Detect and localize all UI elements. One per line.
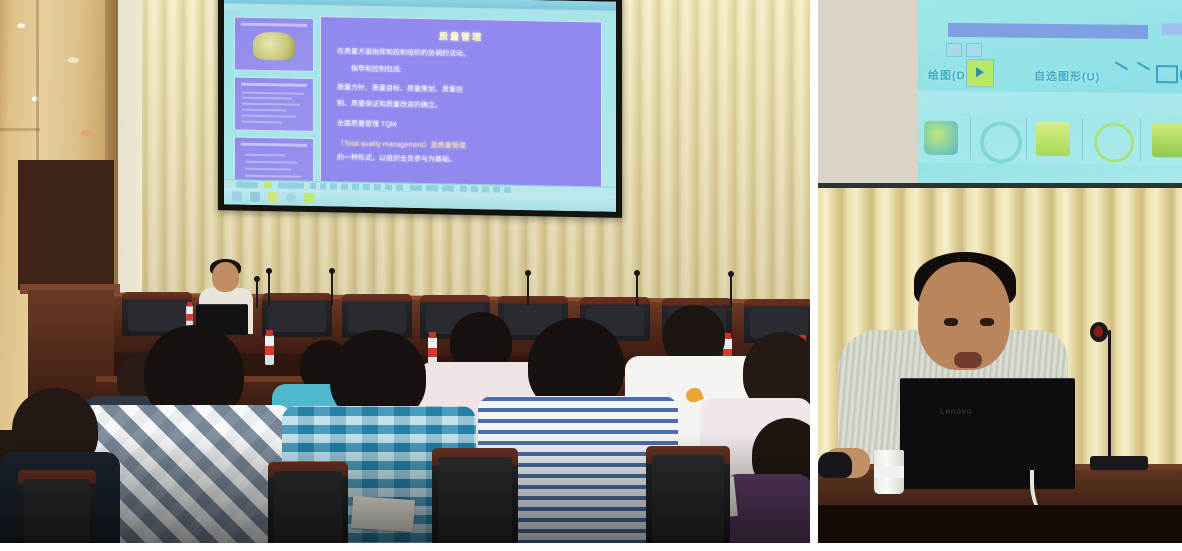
photo-conference-hall-wide: 质量管理 在质量方面指挥和控制组织的协调的活动。 指导和控制包括: 质量方针、质… xyxy=(0,0,810,543)
taskbar-divider xyxy=(1082,118,1083,160)
presenter-head xyxy=(212,262,239,292)
thumbnail-text-line xyxy=(245,168,291,171)
slide-body-line: 制、质量保证和质量改进的确立。 xyxy=(337,99,591,113)
paper-cup xyxy=(874,450,904,494)
wordart-icon[interactable] xyxy=(363,184,370,190)
picture-icon[interactable] xyxy=(396,185,403,191)
presenter-at-head-table xyxy=(196,262,256,332)
selected-text-highlight xyxy=(948,23,1148,39)
thumbnail-text-line xyxy=(242,109,286,112)
start-icon[interactable] xyxy=(232,191,242,201)
thumbnail-text-line xyxy=(242,115,296,118)
slide-body-line: 的一种形式，以组织全员参与为基础。 xyxy=(337,153,591,167)
photo-speaker-closeup: 绘图(D) 自选图形(U) xyxy=(818,0,1182,543)
projection-screen-frame: 质量管理 在质量方面指挥和控制组织的协调的活动。 指导和控制包括: 质量方针、质… xyxy=(218,0,622,218)
taskbar-divider xyxy=(1140,119,1141,161)
powerpoint-window-closeup: 绘图(D) 自选图形(U) xyxy=(918,0,1182,185)
presenter-microphone xyxy=(256,280,258,308)
composite-image: 质量管理 在质量方面指挥和控制组织的协调的活动。 指导和控制包括: 质量方针、质… xyxy=(0,0,1182,551)
rectangle-icon[interactable] xyxy=(1156,65,1178,83)
slide-title: 质量管理 xyxy=(321,27,601,45)
thumbnail-text-line xyxy=(242,103,300,106)
media-icon[interactable] xyxy=(250,192,260,202)
projection-screen-surface: 质量管理 在质量方面指挥和控制组织的协调的活动。 指导和控制包括: 质量方针、质… xyxy=(224,0,616,212)
documents xyxy=(351,496,415,532)
toolbar-icon[interactable] xyxy=(946,43,962,57)
font-color-icon[interactable] xyxy=(442,185,454,191)
clipart-icon[interactable] xyxy=(385,184,392,190)
thumbnail-text-line xyxy=(245,154,285,157)
microphone xyxy=(636,274,638,306)
speaker-mouth xyxy=(954,352,982,368)
thumbnail-illustration xyxy=(253,32,295,61)
taskbar-divider xyxy=(970,117,971,159)
shadow-style-icon[interactable] xyxy=(493,186,500,192)
line-icon[interactable] xyxy=(310,183,316,189)
microphone-stem xyxy=(1108,330,1111,460)
wood-wall-panel xyxy=(18,160,114,290)
slide-body-line: （Total quality management）是质量管理 xyxy=(337,139,591,153)
microphone xyxy=(331,272,333,306)
3d-style-icon[interactable] xyxy=(504,187,511,193)
slide-thumbnail xyxy=(234,76,314,132)
thumbnail-text-line xyxy=(242,92,304,95)
powerpoint-window: 质量管理 在质量方面指挥和控制组织的协调的活动。 指导和控制包括: 质量方针、质… xyxy=(224,0,616,212)
app-icon[interactable] xyxy=(1152,123,1182,157)
thumbnail-text-line xyxy=(242,121,282,124)
toolbar-band xyxy=(918,91,1182,116)
thumbnail-text-line xyxy=(242,97,292,100)
toolbar-icon[interactable] xyxy=(966,43,982,57)
autoshapes-menu-button[interactable] xyxy=(278,182,304,188)
thumbnail-text-line xyxy=(245,175,301,178)
bottle-label xyxy=(428,348,437,357)
pillar-seam xyxy=(0,128,40,131)
thumbnail-title-bar xyxy=(241,83,307,87)
media-icon[interactable] xyxy=(924,121,958,155)
rectangle-icon[interactable] xyxy=(330,183,337,189)
cup-band xyxy=(874,466,904,478)
microphone-base xyxy=(1090,456,1148,470)
browser-icon[interactable] xyxy=(286,192,296,202)
slide-body-line: 指导和控制包括: xyxy=(351,65,591,79)
slide-body-line: 全面质量管理 TQM xyxy=(337,119,591,133)
audience-chair xyxy=(268,462,348,543)
thumbnail-title-bar xyxy=(241,143,307,147)
dash-style-icon[interactable] xyxy=(471,186,478,192)
draw-menu-button[interactable] xyxy=(236,181,258,187)
slide-thumbnail-pane xyxy=(234,12,312,169)
powerpoint-body: 质量管理 在质量方面指挥和控制组织的协调的活动。 指导和控制包括: 质量方针、质… xyxy=(224,10,616,182)
draw-menu-label[interactable]: 绘图(D) xyxy=(928,67,970,83)
audience-chair xyxy=(18,470,96,543)
microphone xyxy=(268,272,270,306)
browser-icon[interactable] xyxy=(980,121,1022,163)
windows-taskbar-closeup[interactable] xyxy=(918,113,1182,166)
slide-body-line: 在质量方面指挥和控制组织的协调的活动。 xyxy=(337,47,591,61)
arrow-icon[interactable] xyxy=(320,183,326,189)
ellipse-icon[interactable] xyxy=(341,183,348,189)
bottle-label xyxy=(265,346,274,355)
line-color-icon[interactable] xyxy=(426,185,438,191)
select-arrow-icon[interactable] xyxy=(966,59,994,87)
folder-icon[interactable] xyxy=(1036,122,1070,156)
taskbar-divider xyxy=(1026,118,1027,160)
thumbnail-title-bar xyxy=(241,23,307,27)
textbox-icon[interactable] xyxy=(352,184,359,190)
ppt-icon[interactable] xyxy=(304,193,314,203)
diagram-icon[interactable] xyxy=(374,184,381,190)
folder-icon[interactable] xyxy=(268,192,278,202)
autoshapes-menu-label[interactable]: 自选图形(U) xyxy=(1034,68,1100,85)
player-icon[interactable] xyxy=(1094,122,1134,162)
slide-thumbnail xyxy=(234,16,314,72)
microphone-foam xyxy=(1094,326,1103,337)
select-arrow-icon[interactable] xyxy=(264,182,272,188)
thumbnail-text-line xyxy=(245,161,297,164)
speaker-eye xyxy=(944,318,958,326)
laptop-logo: Lenovo xyxy=(940,407,972,416)
microphone xyxy=(527,274,529,306)
photo-foreground-shadow xyxy=(818,505,1182,543)
audience-chair xyxy=(432,448,518,543)
toolbar-field xyxy=(1162,23,1182,35)
fill-color-icon[interactable] xyxy=(410,185,422,191)
bottle-label xyxy=(186,314,193,321)
microphone xyxy=(730,275,732,307)
speaker-eye xyxy=(980,318,994,326)
computer-mouse xyxy=(818,452,852,478)
line-style-icon[interactable] xyxy=(460,186,467,192)
arrow-style-icon[interactable] xyxy=(482,186,489,192)
slide-body-line: 质量方针、质量目标、质量策划、质量控 xyxy=(337,83,591,97)
water-bottle xyxy=(265,335,274,365)
current-slide: 质量管理 在质量方面指挥和控制组织的协调的活动。 指导和控制包括: 质量方针、质… xyxy=(320,16,602,191)
projection-screen-closeup: 绘图(D) 自选图形(U) xyxy=(918,0,1182,185)
audience-chair xyxy=(646,446,730,543)
